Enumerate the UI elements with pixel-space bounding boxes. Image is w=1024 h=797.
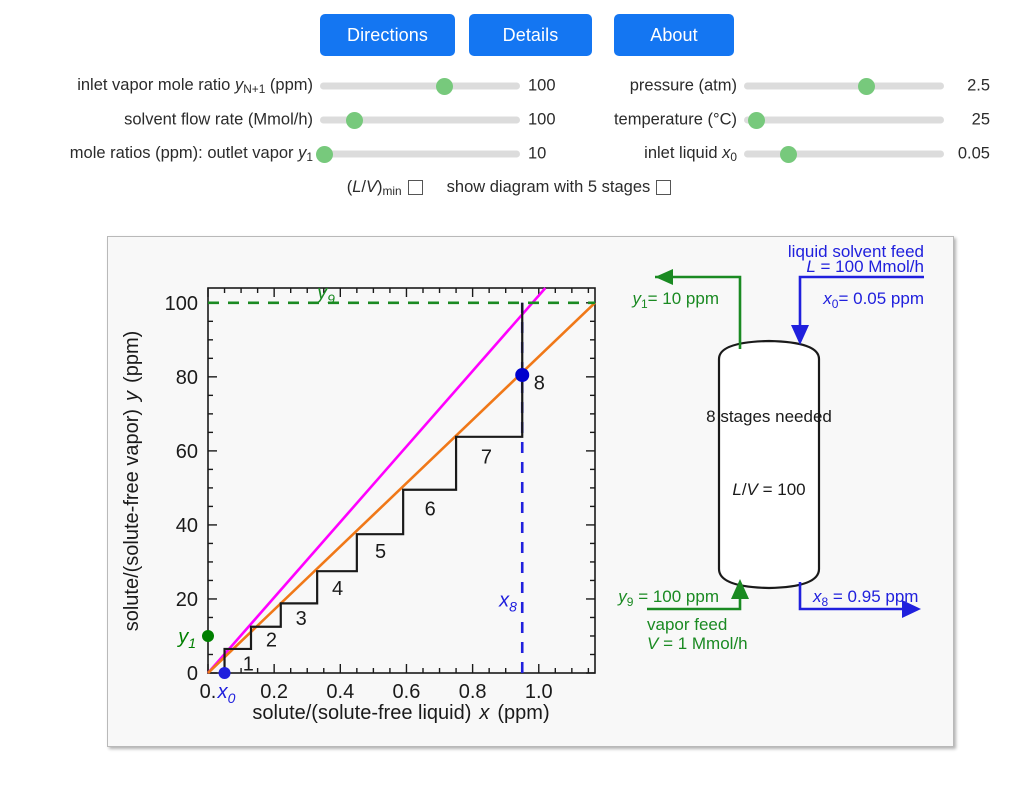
outlet-vapor-arrowhead bbox=[655, 269, 673, 285]
stage-label-1: 1 bbox=[243, 654, 254, 676]
slider-right-1[interactable] bbox=[744, 111, 944, 129]
vapor-feed-caption-2: V = 1 Mmol/h bbox=[647, 634, 748, 653]
y-axis-title: solute/(solute-free vapor)y(ppm) bbox=[121, 331, 143, 632]
slider-row-right-1: temperature (°C)25 bbox=[0, 107, 1024, 133]
mccabe-thiele-figure: 0.0.20.40.60.81.0 020406080100 12345678 … bbox=[108, 237, 953, 746]
plot-area: 0.0.20.40.60.81.0 020406080100 12345678 … bbox=[121, 282, 595, 724]
checkbox-row: (L/V)min show diagram with 5 stages bbox=[0, 178, 1024, 198]
x-axis-title: solute/(solute-free liquid)x(ppm) bbox=[252, 702, 549, 724]
slider-thumb[interactable] bbox=[748, 112, 765, 129]
series-layer bbox=[208, 288, 595, 673]
about-button[interactable]: About bbox=[614, 14, 734, 56]
x-tick-label: 0.6 bbox=[393, 681, 421, 703]
equilibrium-line bbox=[208, 288, 545, 673]
x8-line-label: x8 bbox=[498, 589, 517, 614]
slider-right-2[interactable] bbox=[744, 145, 944, 163]
slider-value-right-2: 0.05 bbox=[952, 145, 990, 164]
stage-label-4: 4 bbox=[332, 578, 343, 600]
vapor-feed-caption-1: vapor feed bbox=[647, 615, 727, 634]
lv-min-checkbox[interactable] bbox=[408, 180, 423, 195]
x-axis-tick-labels: 0.0.20.40.60.81.0 bbox=[200, 681, 553, 703]
stage-staircase bbox=[225, 303, 523, 673]
slider-track[interactable] bbox=[744, 151, 944, 158]
y-tick-label: 20 bbox=[176, 589, 198, 611]
app-root: Directions Details About inlet vapor mol… bbox=[0, 0, 1024, 797]
y-tick-label: 80 bbox=[176, 367, 198, 389]
y1-point-label: y1 bbox=[176, 626, 196, 651]
x-tick-label: 0.4 bbox=[326, 681, 354, 703]
x-tick-label: 0. bbox=[200, 681, 217, 703]
slider-value-right-0: 2.5 bbox=[952, 77, 990, 96]
lv-ratio-text: L/V = 100 bbox=[732, 480, 805, 499]
y-tick-label: 60 bbox=[176, 441, 198, 463]
y1-point bbox=[202, 630, 214, 642]
liquid-feed-caption-2: L = 100 Mmol/h bbox=[806, 257, 924, 276]
figure-panel: 0.0.20.40.60.81.0 020406080100 12345678 … bbox=[107, 236, 954, 747]
outlet-vapor-label: y1= 10 ppm bbox=[631, 289, 719, 311]
slider-track[interactable] bbox=[744, 117, 944, 124]
stages-needed-text: 8 stages needed bbox=[706, 407, 832, 426]
stage-label-6: 6 bbox=[425, 498, 436, 520]
stage-label-2: 2 bbox=[266, 630, 277, 652]
slider-value-right-1: 25 bbox=[952, 111, 990, 130]
details-button[interactable]: Details bbox=[469, 14, 592, 56]
x0-point bbox=[219, 667, 231, 679]
plot-frame bbox=[208, 288, 595, 673]
stage-label-7: 7 bbox=[481, 446, 492, 468]
slider-label-right-1: temperature (°C) bbox=[614, 111, 737, 130]
outlet-liquid-label: x8 = 0.95 ppm bbox=[812, 587, 918, 609]
liquid-feed-label: x0= 0.05 ppm bbox=[822, 289, 924, 311]
operating-line bbox=[208, 303, 595, 673]
slider-row-right-0: pressure (atm)2.5 bbox=[0, 73, 1024, 99]
stage-label-8: 8 bbox=[534, 372, 545, 394]
x-tick-label: 0.8 bbox=[459, 681, 487, 703]
x0-point-label: x0 bbox=[217, 681, 236, 706]
slider-row-right-2: inlet liquid x00.05 bbox=[0, 141, 1024, 167]
vapor-feed-label: y9 = 100 ppm bbox=[617, 587, 719, 609]
slider-label-right-0: pressure (atm) bbox=[630, 77, 737, 96]
y9-line-label: y9 bbox=[315, 282, 335, 307]
y-tick-label: 0 bbox=[187, 663, 198, 685]
stage8-point bbox=[515, 368, 529, 382]
show-5-stages-checkbox[interactable] bbox=[656, 180, 671, 195]
stage-labels: 12345678 bbox=[243, 372, 545, 675]
y-tick-label: 40 bbox=[176, 515, 198, 537]
absorber-vessel bbox=[719, 341, 819, 588]
show-5-stages-label: show diagram with 5 stages bbox=[447, 178, 651, 197]
x-tick-label: 1.0 bbox=[525, 681, 553, 703]
slider-thumb[interactable] bbox=[858, 78, 875, 95]
slider-right-0[interactable] bbox=[744, 77, 944, 95]
x-axis-ticks bbox=[208, 288, 588, 673]
stage-label-5: 5 bbox=[375, 541, 386, 563]
x-tick-label: 0.2 bbox=[260, 681, 288, 703]
slider-label-right-2: inlet liquid x0 bbox=[644, 144, 737, 164]
directions-button[interactable]: Directions bbox=[320, 14, 455, 56]
toolbar: Directions Details About bbox=[0, 14, 1024, 56]
outlet-vapor-stream bbox=[655, 277, 740, 349]
slider-track[interactable] bbox=[744, 83, 944, 90]
staircase-layer bbox=[225, 303, 523, 673]
slider-thumb[interactable] bbox=[780, 146, 797, 163]
y-tick-label: 100 bbox=[165, 293, 198, 315]
process-diagram: 8 stages needed L/V = 100 y1= 10 ppm liq bbox=[617, 242, 924, 653]
stage-label-3: 3 bbox=[296, 608, 307, 630]
lv-min-label: (L/V)min bbox=[347, 178, 402, 198]
